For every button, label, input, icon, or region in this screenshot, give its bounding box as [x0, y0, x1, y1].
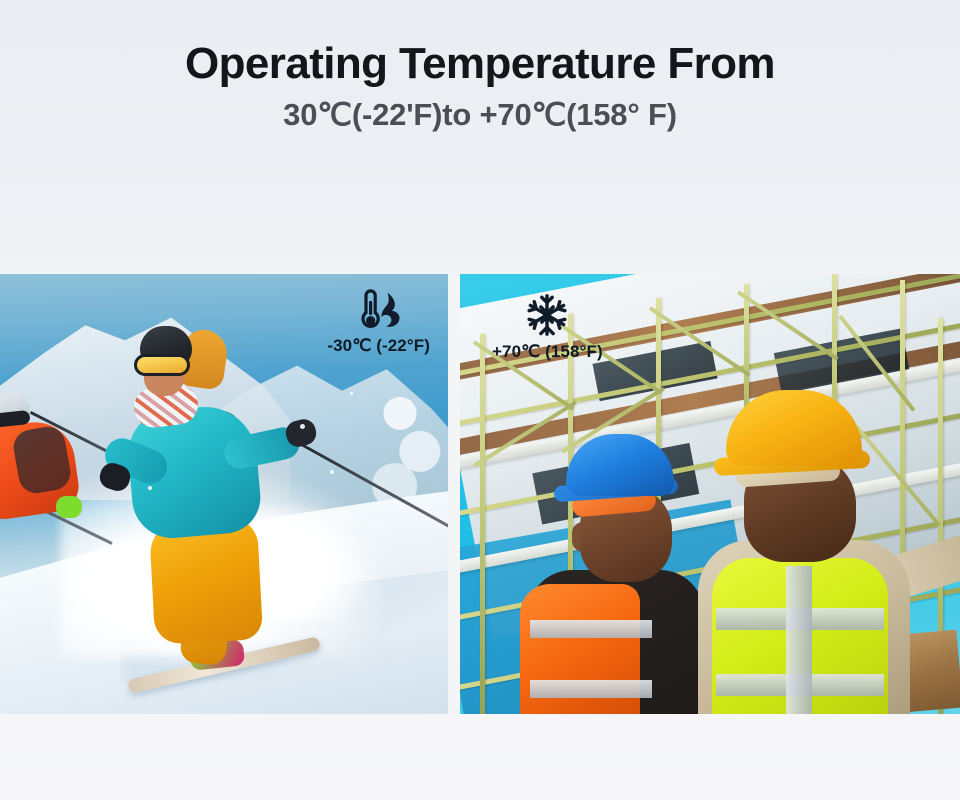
cold-temperature-badge: -30℃ (-22°F)	[327, 288, 430, 356]
yellow-hi-vis-vest	[712, 558, 888, 714]
glove	[56, 496, 82, 518]
reflective-stripe	[530, 680, 652, 698]
blue-hard-hat	[566, 434, 674, 496]
hot-weather-construction-photo: +70℃ (158°F)	[460, 274, 960, 714]
page-title: Operating Temperature From	[0, 0, 960, 90]
ski-goggles	[134, 354, 190, 376]
worker-yellow-helmet	[690, 390, 960, 714]
snowflake-icon	[492, 292, 603, 338]
hot-temperature-label: +70℃ (158°F)	[492, 342, 603, 362]
product-feature-banner: Operating Temperature From 30℃(-22'F)to …	[0, 0, 960, 800]
reflective-stripe	[530, 620, 652, 638]
hot-temperature-badge: +70℃ (158°F)	[492, 292, 603, 362]
panel-divider	[448, 274, 460, 714]
main-skier	[108, 312, 338, 652]
scaffold-post	[480, 334, 485, 714]
orange-hi-vis-vest	[520, 584, 640, 714]
cold-temperature-label: -30℃ (-22°F)	[327, 336, 430, 356]
reflective-stripe-vertical	[786, 566, 812, 714]
thermometer-flame-icon	[327, 288, 430, 332]
snow-particle	[350, 392, 353, 395]
cold-weather-skiing-photo: -30℃ (-22°F)	[0, 274, 448, 714]
yellow-hard-hat	[726, 390, 862, 466]
snow-particle	[330, 470, 334, 474]
header: Operating Temperature From 30℃(-22'F)to …	[0, 0, 960, 134]
background-skier	[0, 392, 92, 542]
page-subtitle: 30℃(-22'F)to +70℃(158° F)	[0, 90, 960, 134]
snow-particle	[276, 542, 281, 547]
snow-particle	[300, 424, 305, 429]
panel-row: -30℃ (-22°F)	[0, 274, 960, 714]
snow-particle	[148, 486, 152, 490]
